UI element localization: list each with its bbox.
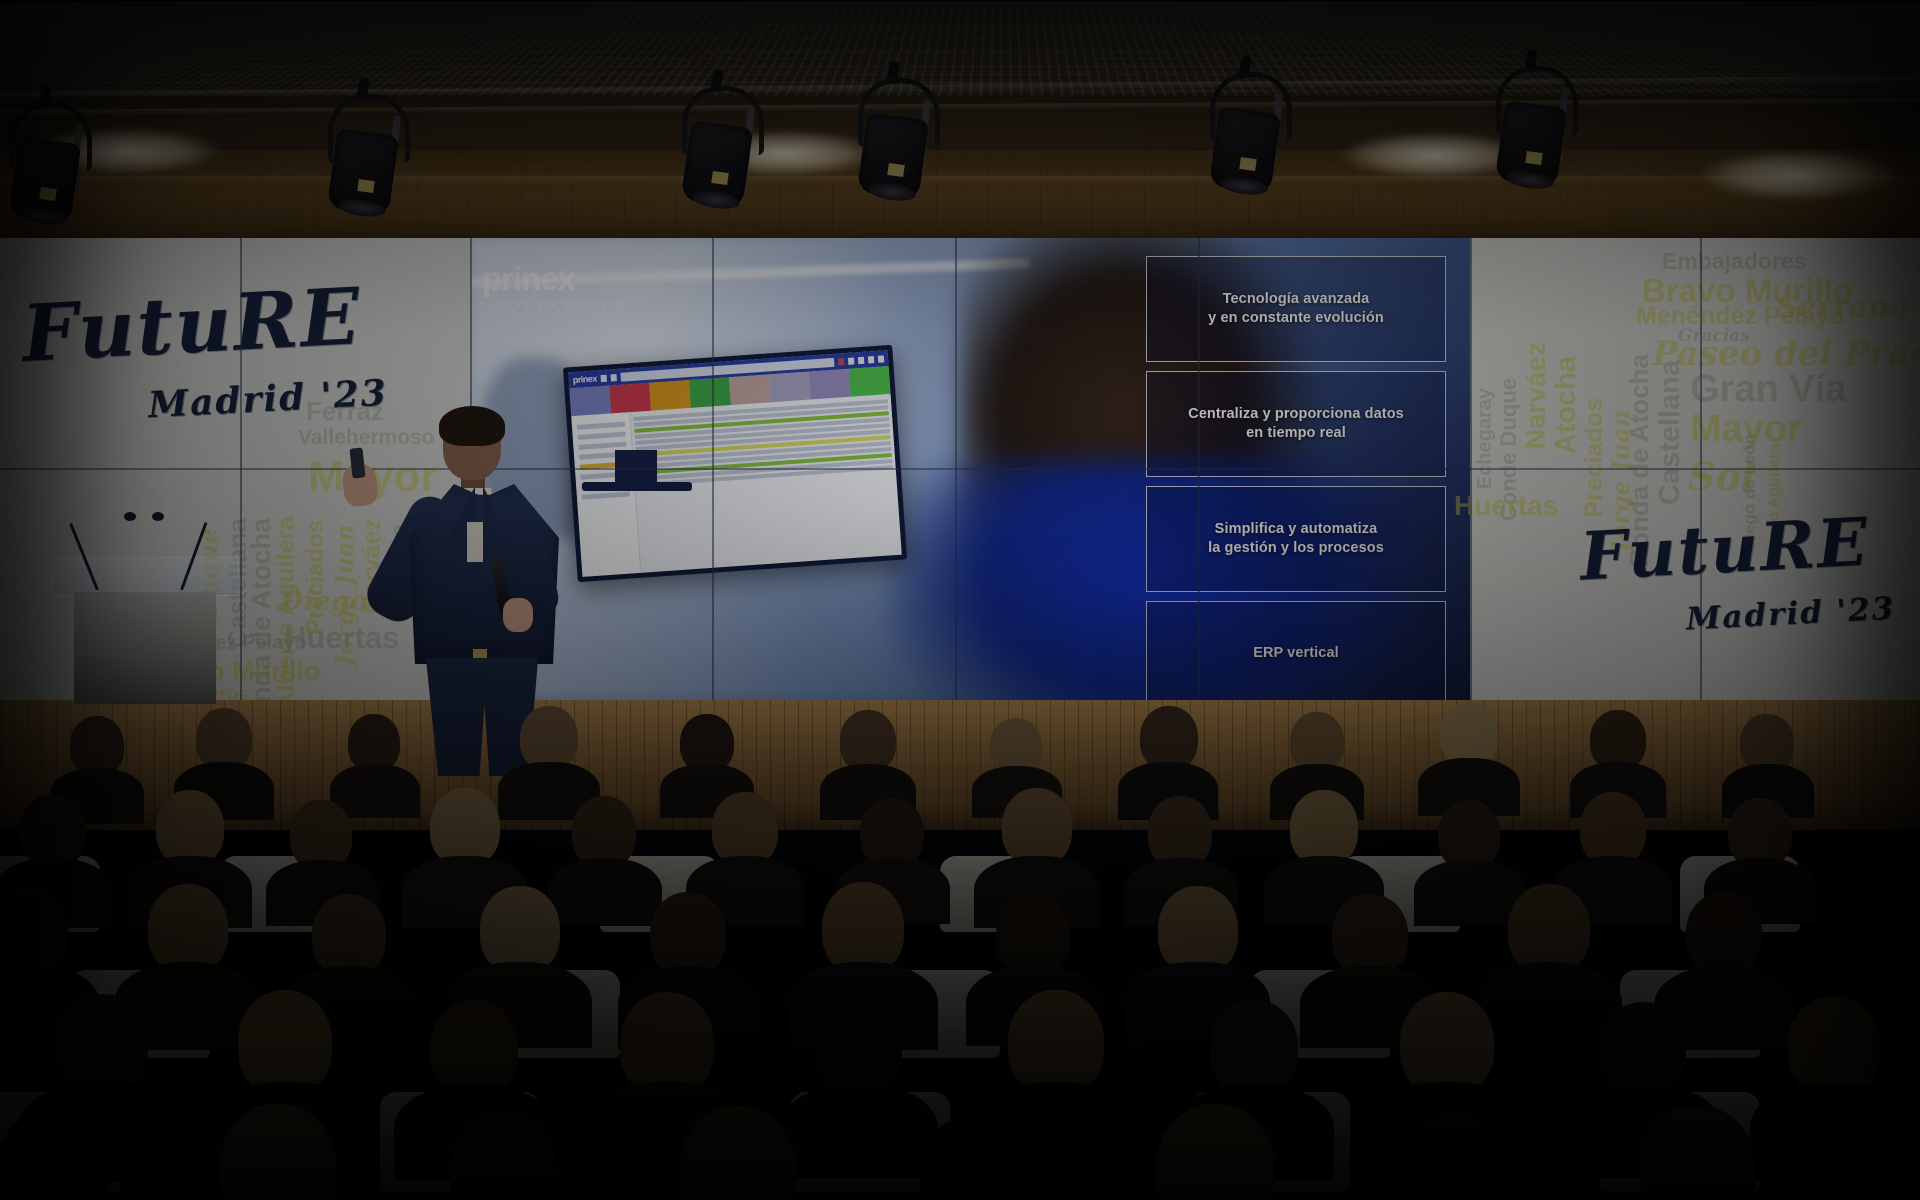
slide-box-text: ERP vertical	[1253, 644, 1339, 663]
slide-box-erp-vertical: ERP vertical	[1146, 601, 1446, 700]
erp-tile-3[interactable]	[649, 380, 691, 411]
slide-message-boxes: Tecnología avanzada y en constante evolu…	[1146, 256, 1446, 700]
cloud-word: Echegaray	[1474, 388, 1497, 489]
slide-box-line2: en tiempo real	[1246, 425, 1346, 441]
erp-tile-5[interactable]	[729, 374, 771, 405]
person-head	[1686, 892, 1762, 976]
erp-brand: prinex	[572, 373, 597, 385]
cloud-word: Gracias	[1678, 326, 1750, 346]
cloud-word: Preciados	[302, 520, 330, 635]
lighting-truss	[0, 98, 1920, 117]
save-icon[interactable]	[848, 357, 854, 364]
person-head	[1290, 790, 1358, 866]
cloud-word: Atocha	[1550, 356, 1583, 454]
ceiling-beam-lower	[0, 176, 1920, 185]
prinex-wordmark: prinex	[482, 260, 624, 298]
podium-glass-top	[52, 556, 239, 596]
speaker-left-hand	[503, 598, 533, 632]
help-icon[interactable]	[878, 355, 884, 362]
lamp-label-icon	[1239, 157, 1257, 171]
person-head	[1600, 1002, 1686, 1096]
lamp-label-icon	[357, 179, 375, 193]
person-head	[1290, 712, 1344, 772]
event-logo-main-right: FutuRE	[1578, 502, 1871, 595]
person-head	[1332, 894, 1408, 976]
monitor-base	[582, 482, 692, 491]
person-shoulders	[1750, 1082, 1916, 1180]
stage-light-6	[1486, 60, 1578, 190]
person-head	[1140, 706, 1198, 770]
lamp-label-icon	[39, 187, 57, 201]
slide-box-tecnologia: Tecnología avanzada y en constante evolu…	[1146, 256, 1446, 362]
person-head	[712, 792, 778, 866]
person-shoulders	[548, 858, 662, 926]
erp-tile-4[interactable]	[689, 377, 731, 408]
person-head	[1508, 884, 1590, 974]
person-head	[1158, 886, 1238, 974]
lamp-label-icon	[1525, 151, 1543, 165]
erp-tile-2[interactable]	[609, 383, 651, 414]
prinex-logo: prinex real estate software	[482, 260, 624, 309]
person-head	[816, 1002, 902, 1096]
person-head	[480, 886, 560, 974]
person-head	[1788, 996, 1880, 1096]
person-head	[1440, 702, 1498, 766]
video-wall: FutuRE Madrid '23 Ferraz Vallehermoso Ma…	[0, 238, 1920, 700]
event-logo-sub-right: Madrid '23	[1685, 591, 1896, 638]
stage-light-1	[0, 96, 92, 226]
screenshot-root: FutuRE Madrid '23 Ferraz Vallehermoso Ma…	[0, 0, 1920, 1200]
slide-box-line1: Simplifica y automatiza	[1215, 521, 1378, 537]
slide-box-centraliza: Centraliza y proporciona datos en tiempo…	[1146, 371, 1446, 477]
erp-tile-6[interactable]	[769, 372, 811, 403]
podium-body	[74, 592, 216, 704]
speaker-glasses-icon	[447, 436, 497, 448]
person-head	[70, 716, 124, 776]
person-head	[822, 882, 904, 974]
event-logo-main-left: FutuRE	[20, 271, 364, 380]
person-head	[430, 1000, 518, 1096]
stage-light-2	[318, 88, 410, 218]
slide-box-line2: la gestión y los procesos	[1208, 540, 1384, 556]
slide-box-line1: Tecnología avanzada	[1223, 291, 1370, 307]
person-head	[148, 884, 228, 974]
person-head	[196, 708, 252, 770]
slide-box-simplifica: Simplifica y automatiza la gestión y los…	[1146, 486, 1446, 592]
person-head	[1002, 788, 1072, 866]
slide-box-line1: Centraliza y proporciona datos	[1188, 406, 1404, 422]
lamp-label-icon	[711, 171, 729, 185]
slide-box-text: Centraliza y proporciona datos en tiempo…	[1188, 405, 1404, 443]
search-icon	[610, 374, 616, 381]
slide-box-text: Simplifica y automatiza la gestión y los…	[1208, 520, 1384, 558]
podium	[52, 556, 237, 706]
person-head	[620, 992, 714, 1096]
person-shoulders	[780, 1084, 938, 1178]
star-icon	[600, 374, 606, 381]
cloud-word: Ferraz	[306, 396, 384, 427]
slide-box-text: Tecnología avanzada y en constante evolu…	[1208, 290, 1384, 328]
menu-icon[interactable]	[868, 356, 874, 363]
person-head	[1580, 792, 1646, 866]
person-head	[56, 994, 148, 1096]
speaker-shirt-front	[467, 522, 483, 562]
person-head	[1590, 710, 1646, 770]
microphone-head-icon	[124, 512, 136, 521]
lamp-label-icon	[887, 163, 905, 177]
stage-light-5	[1200, 66, 1292, 196]
erp-sidebar-item[interactable]	[582, 491, 630, 499]
person-head	[520, 706, 578, 770]
erp-tile-8[interactable]	[849, 366, 891, 397]
person-head	[840, 710, 896, 772]
ceiling	[0, 0, 1920, 268]
microphone-head-icon	[152, 512, 164, 521]
user-icon[interactable]	[858, 356, 864, 363]
person-head	[312, 894, 386, 976]
audience	[0, 690, 1920, 1200]
stage-light-3	[672, 80, 764, 210]
person-head	[238, 990, 332, 1096]
person-head	[1210, 1000, 1298, 1096]
cloud-word: Castellana	[1654, 360, 1687, 505]
person-head	[1008, 990, 1104, 1096]
wall-seam	[0, 468, 1920, 470]
person-shoulders	[1474, 962, 1622, 1050]
slide-box-line2: y en constante evolución	[1208, 310, 1384, 326]
cloud-word: Gran Vía	[1690, 368, 1846, 411]
cloud-word: Serrano	[1776, 290, 1910, 325]
alert-icon[interactable]	[838, 358, 844, 365]
person-head	[1400, 992, 1494, 1096]
speaker-belt-buckle	[473, 649, 487, 659]
person-head	[996, 896, 1070, 976]
cloud-word: Embajadores	[1662, 248, 1806, 275]
cloud-word: Narváez	[1520, 342, 1552, 449]
person-head	[650, 892, 726, 976]
monitor-stand	[615, 450, 657, 484]
erp-tile-7[interactable]	[809, 369, 851, 400]
person-head	[430, 788, 500, 866]
downlight-4	[1700, 150, 1900, 200]
stage-light-4	[848, 72, 940, 202]
person-head	[20, 794, 86, 868]
prinex-tagline: real estate software	[482, 299, 624, 309]
cloud-word: Preciados	[1580, 398, 1609, 518]
person-head	[156, 790, 224, 866]
erp-sidebar-item[interactable]	[578, 442, 626, 450]
